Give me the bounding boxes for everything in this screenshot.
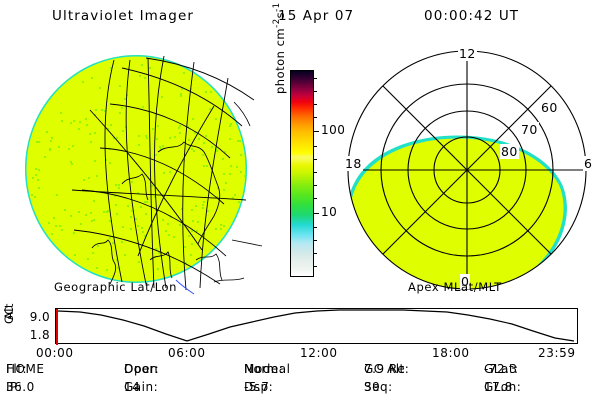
colorbar-axis-label-text: photon cm bbox=[273, 28, 287, 94]
colorbar-tick-minor bbox=[313, 240, 317, 241]
colorbar-tick-minor bbox=[313, 227, 317, 228]
colorbar-gradient bbox=[290, 70, 314, 277]
colorbar-tick-minor bbox=[313, 159, 317, 160]
colorbar-axis-label: photon cm-2s-1 bbox=[272, 0, 287, 94]
colorbar-tick-minor bbox=[313, 91, 317, 92]
colorbar-tick-minor bbox=[313, 198, 317, 199]
polar-mlat-ring-label-60: 60 bbox=[540, 100, 559, 115]
polar-mlt-label-18: 18 bbox=[344, 156, 363, 171]
status-ip-value: 36.0 bbox=[6, 380, 35, 394]
status-glat-value: -72.3 bbox=[484, 362, 518, 376]
status-gc-alt-value: 7.9 Re bbox=[364, 362, 405, 376]
status-gain-value: 14 bbox=[124, 380, 140, 394]
colorbar-tick-minor bbox=[313, 146, 317, 147]
colorbar-tick-minor bbox=[313, 253, 317, 254]
strip-xtick-1800: 18:00 bbox=[432, 346, 470, 360]
polar-mlat-ring-label-70: 70 bbox=[520, 122, 539, 137]
strip-ytick-top: 9.0 bbox=[18, 310, 50, 324]
colorbar-tick-minor bbox=[313, 266, 317, 267]
colorbar-tick-minor bbox=[313, 117, 317, 118]
observation-time: 00:00:42 UT bbox=[424, 8, 519, 24]
colorbar-tick-minor bbox=[313, 78, 317, 79]
strip-xtick-1200: 12:00 bbox=[300, 346, 338, 360]
status-dsp-value: -5.7 bbox=[244, 380, 269, 394]
polar-panel-caption: Apex MLat/MLT bbox=[408, 280, 502, 294]
colorbar-tick-major-10 bbox=[313, 213, 319, 214]
header-bar: Ultraviolet Imager 15 Apr 07 00:00:42 UT bbox=[0, 4, 600, 30]
colorbar-axis-label-mid: s bbox=[273, 12, 287, 19]
colorbar-axis-exp-1: -2 bbox=[272, 18, 282, 27]
strip-xtick-2359: 23:59 bbox=[538, 346, 576, 360]
polar-mlt-label-6: 6 bbox=[583, 156, 593, 171]
strip-ytick-bottom: 1.8 bbox=[18, 328, 50, 342]
status-mode-value: Normal bbox=[244, 362, 290, 376]
gc-altitude-trace bbox=[56, 309, 576, 342]
geographic-graticule-overlay bbox=[18, 44, 268, 296]
gc-altitude-strip-plot[interactable] bbox=[55, 308, 578, 344]
status-door-value: Open bbox=[124, 362, 158, 376]
colorbar-tick-minor bbox=[313, 172, 317, 173]
strip-xtick-0600: 06:00 bbox=[168, 346, 206, 360]
polar-plot-graphic bbox=[340, 44, 596, 296]
polar-mlat-ring-label-80: 80 bbox=[500, 144, 519, 159]
colorbar-tick-minor bbox=[313, 185, 317, 186]
observation-date: 15 Apr 07 bbox=[278, 8, 354, 24]
colorbar-legend[interactable]: 100 10 photon cm-2s-1 bbox=[276, 62, 338, 292]
instrument-title: Ultraviolet Imager bbox=[52, 8, 194, 24]
status-seq-value: 39 bbox=[364, 380, 380, 394]
polar-mlt-label-12: 12 bbox=[458, 46, 477, 61]
colorbar-axis-exp-2: -1 bbox=[272, 2, 282, 11]
status-glon-value: 17.8 bbox=[484, 380, 513, 394]
colorbar-tick-major-100 bbox=[313, 131, 319, 132]
polar-mlat-mlt-panel[interactable]: 12 6 0 18 60 70 80 Apex MLat/MLT bbox=[340, 44, 596, 296]
colorbar-tick-minor bbox=[313, 104, 317, 105]
status-flight-value: HOME bbox=[6, 362, 44, 376]
strip-ylabel-alt: Alt bbox=[2, 306, 16, 320]
status-bar: Flt: HOME Door: Open Mode: Normal GC Alt… bbox=[0, 362, 600, 400]
strip-xtick-0000: 00:00 bbox=[36, 346, 74, 360]
geographic-image-panel[interactable]: Geographic Lat/Lon bbox=[18, 44, 268, 296]
geo-panel-caption: Geographic Lat/Lon bbox=[54, 280, 177, 294]
colorbar-label-10: 10 bbox=[321, 205, 337, 219]
